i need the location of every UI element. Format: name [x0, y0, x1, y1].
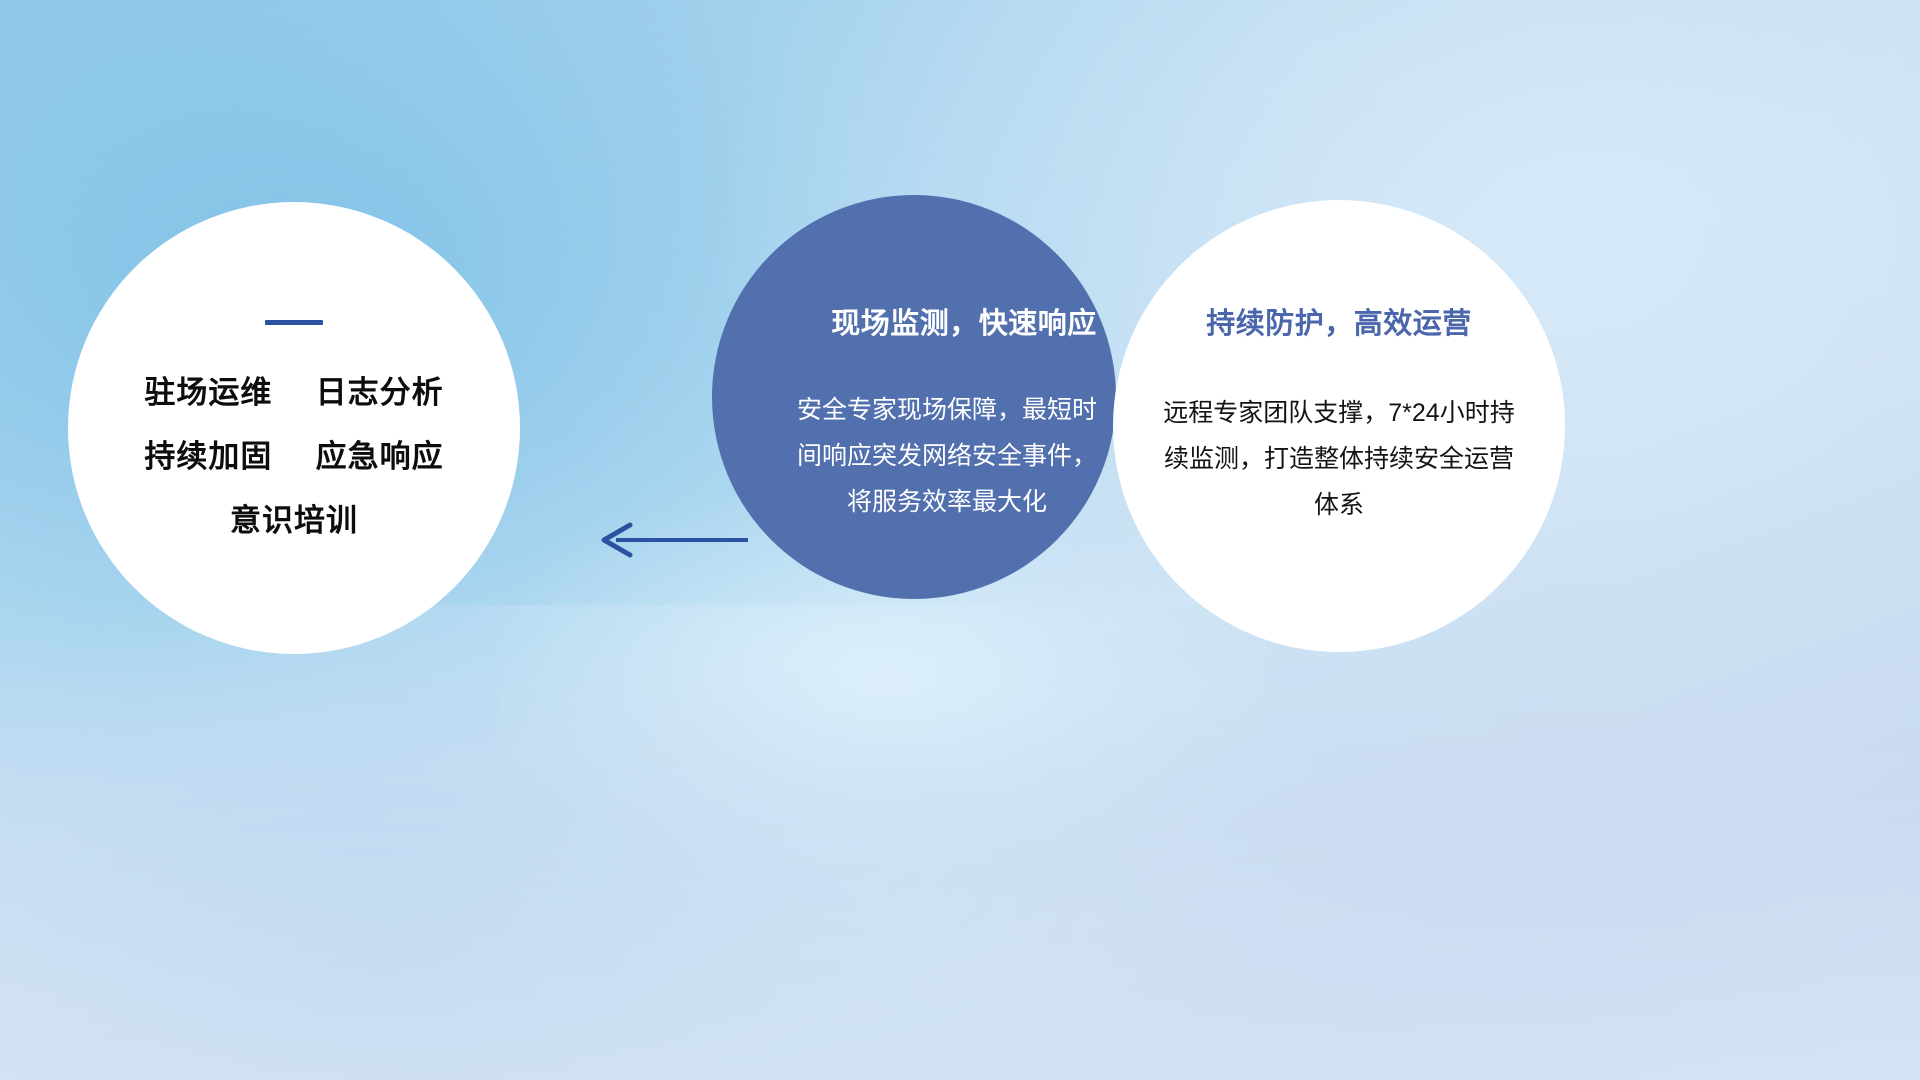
mid-blue-circle: 现场监测，快速响应 安全专家现场保障，最短时间响应突发网络安全事件，将服务效率最… [712, 195, 1116, 599]
right-white-circle: 持续防护，高效运营 远程专家团队支撑，7*24小时持续监测，打造整体持续安全运营… [1113, 200, 1565, 652]
keyword-label: 应急响应 [316, 439, 444, 474]
keyword-label: 日志分析 [316, 375, 444, 410]
left-arrow-icon [490, 505, 750, 575]
slide-canvas: 驻场运维 日志分析 持续加固 应急响应 意识培训 现场监测，快速响应 安全专家现… [0, 0, 1920, 1080]
background-bottom-fade [0, 626, 1920, 1080]
short-rule-icon [265, 320, 323, 325]
left-keywords-circle: 驻场运维 日志分析 持续加固 应急响应 意识培训 [68, 202, 520, 654]
keyword-row: 意识培训 [144, 489, 443, 553]
keyword-row: 驻场运维 日志分析 [144, 361, 443, 425]
left-keyword-list: 驻场运维 日志分析 持续加固 应急响应 意识培训 [144, 361, 443, 553]
keyword-label: 驻场运维 [144, 375, 272, 410]
keyword-label: 持续加固 [144, 439, 272, 474]
mid-circle-title: 现场监测，快速响应 [831, 300, 1097, 342]
right-circle-title: 持续防护，高效运营 [1206, 300, 1472, 342]
keyword-label: 意识培训 [230, 503, 358, 538]
connector-arrow [490, 505, 750, 575]
mid-circle-body: 安全专家现场保障，最短时间响应突发网络安全事件，将服务效率最大化 [797, 387, 1097, 525]
right-circle-body: 远程专家团队支撑，7*24小时持续监测，打造整体持续安全运营体系 [1159, 390, 1519, 528]
keyword-row: 持续加固 应急响应 [144, 425, 443, 489]
